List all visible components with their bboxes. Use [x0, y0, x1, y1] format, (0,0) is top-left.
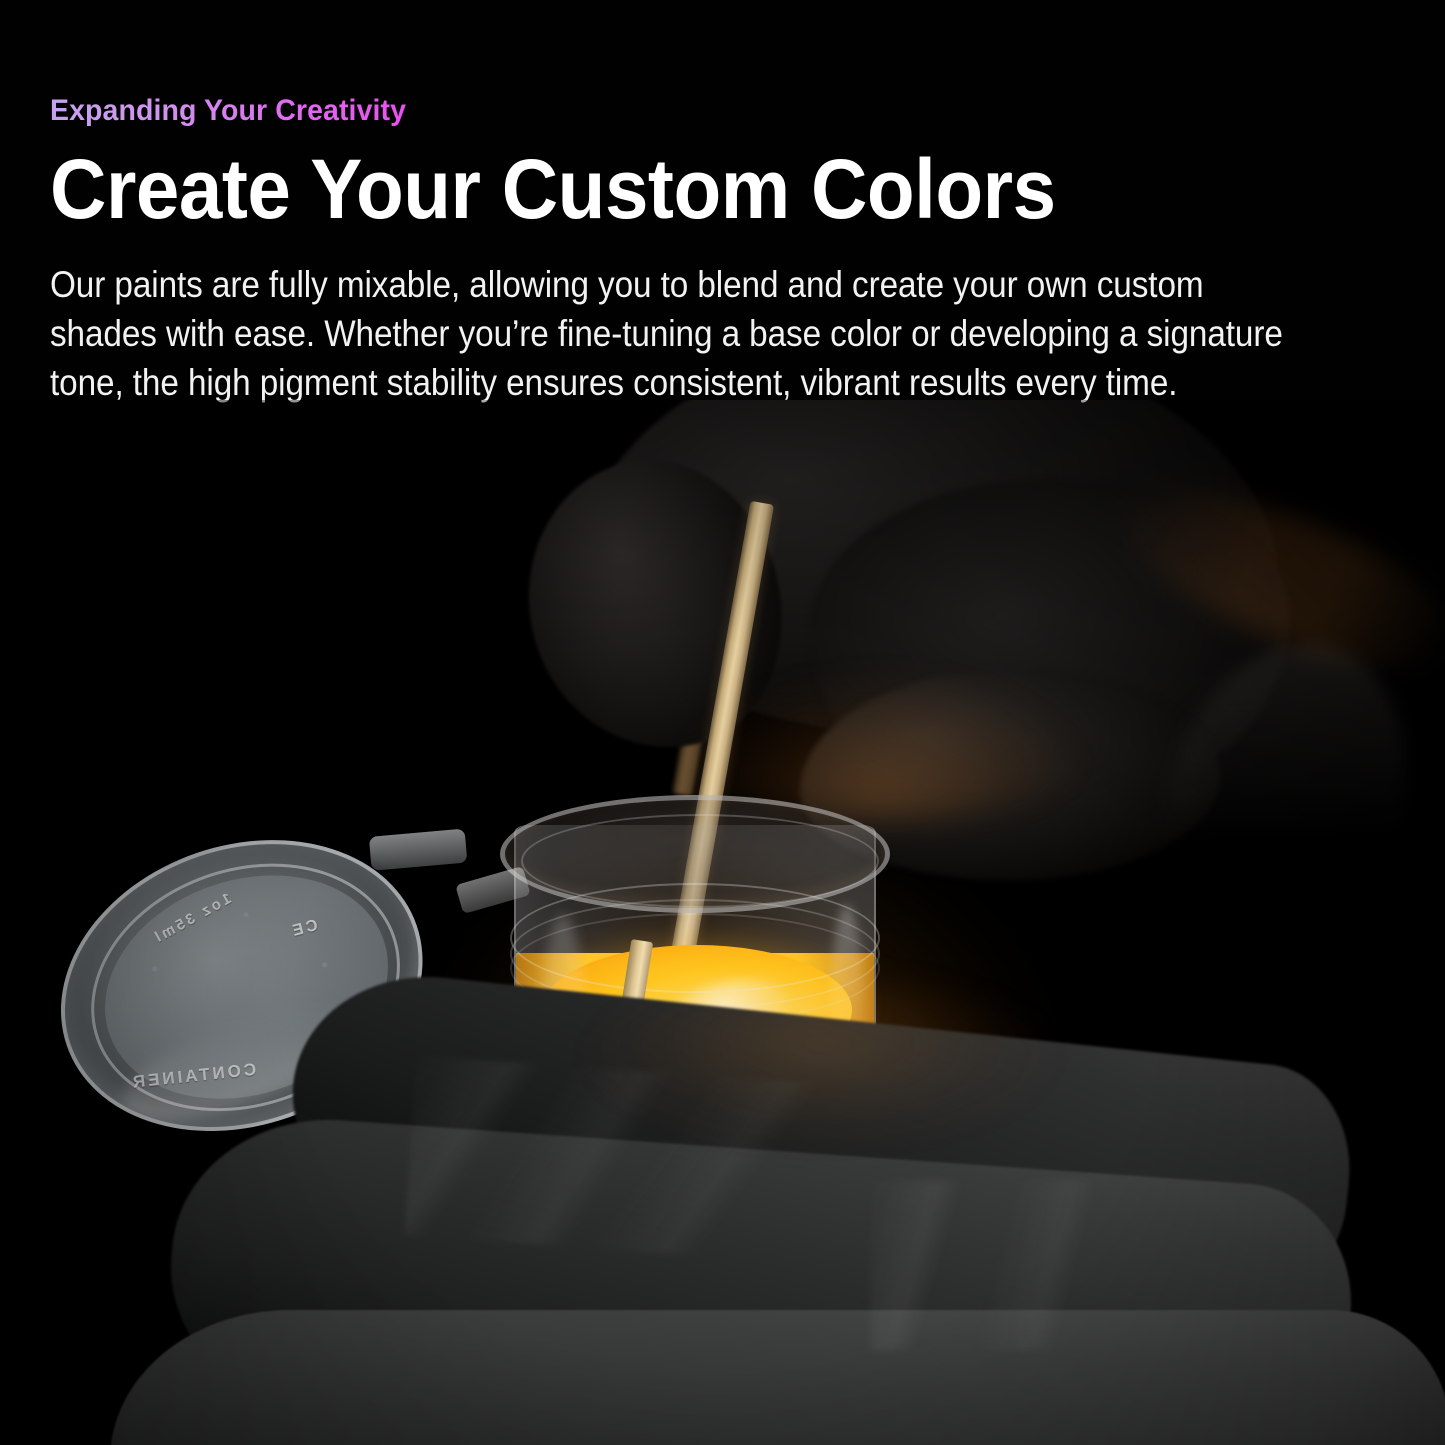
- lower-gloved-hand: [110, 980, 1445, 1445]
- glove-warm-bounce-light: [590, 980, 1050, 1140]
- product-photo: CONTAINER 1oz 35ml CE: [0, 400, 1445, 1445]
- cup-rim-inner: [521, 814, 879, 908]
- page-title: Create Your Custom Colors: [50, 147, 1315, 231]
- cup-rim: [500, 795, 890, 913]
- glove-wrinkles-lower: [870, 1180, 1250, 1350]
- kicker-eyebrow: Expanding Your Creativity: [50, 94, 406, 127]
- lid-hinge-arm: [369, 829, 468, 871]
- body-paragraph: Our paints are fully mixable, allowing y…: [50, 261, 1301, 407]
- text-block: Expanding Your Creativity Create Your Cu…: [50, 94, 1410, 407]
- promo-poster: Expanding Your Creativity Create Your Cu…: [0, 0, 1445, 1445]
